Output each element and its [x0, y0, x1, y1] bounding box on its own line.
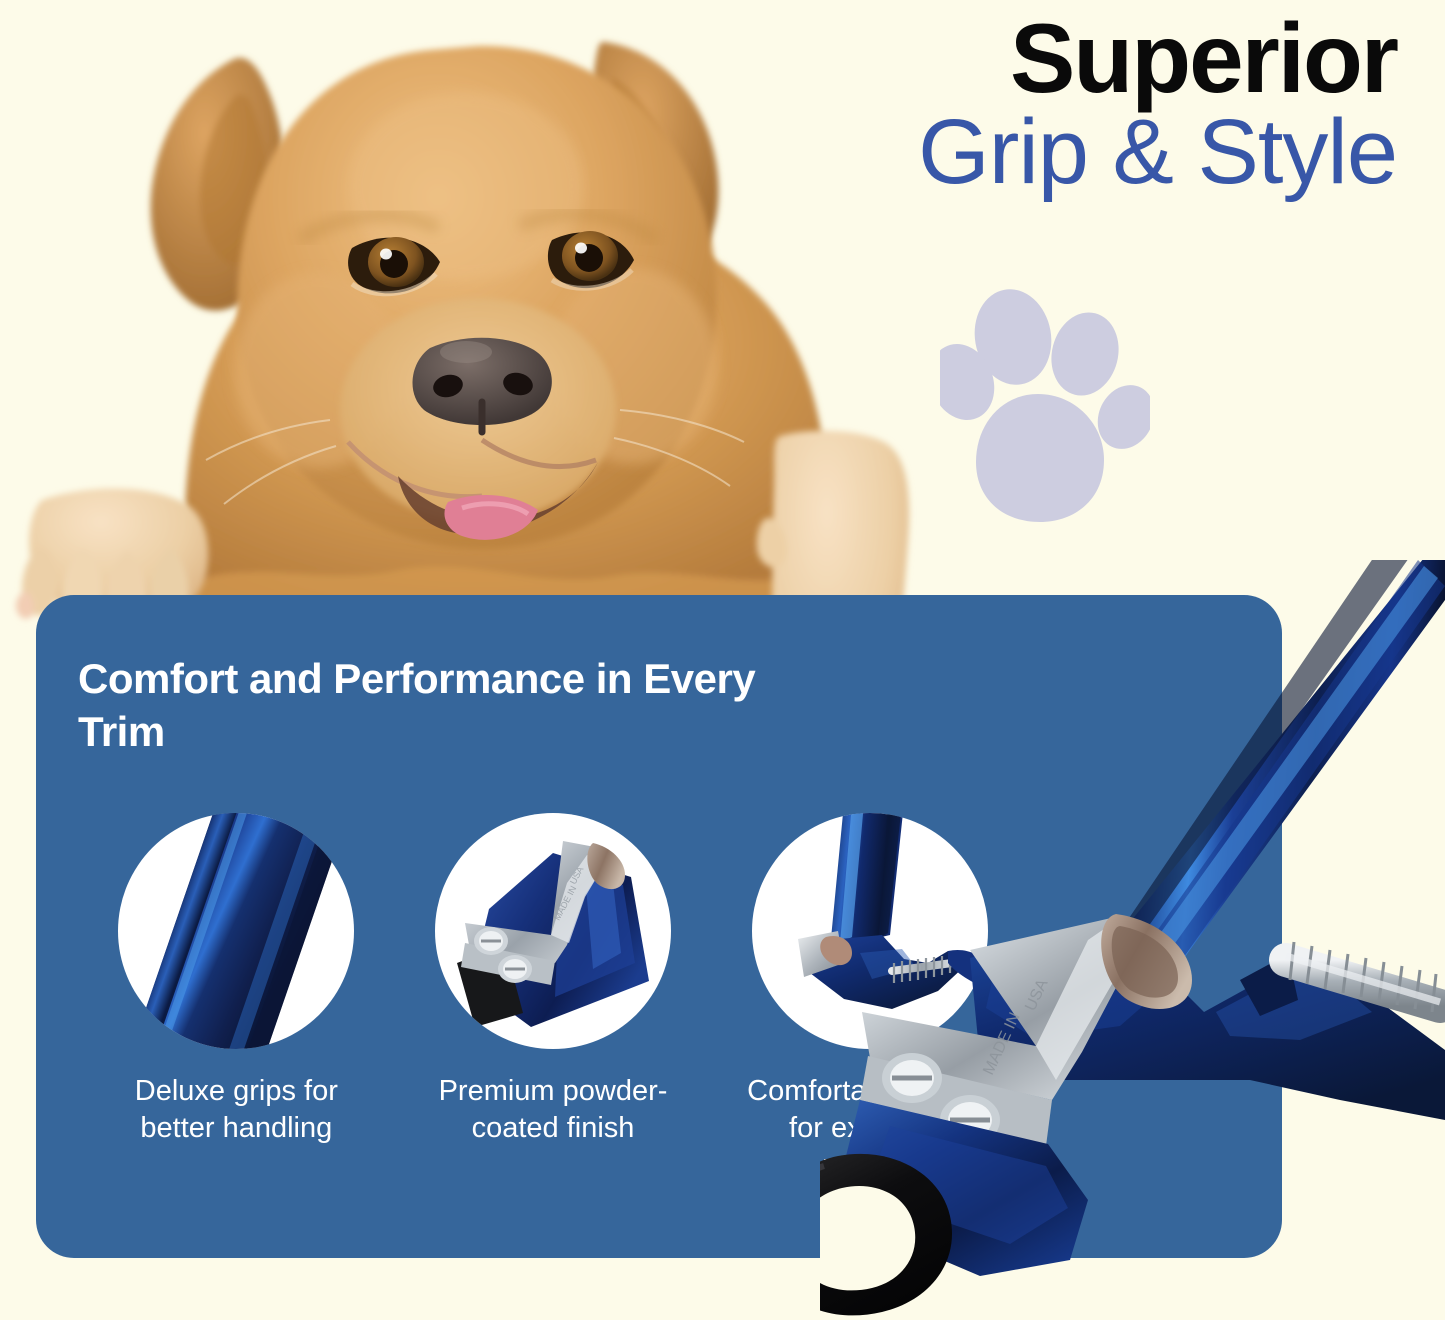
feature-image-powder-coated: MADE IN USA [435, 813, 671, 1049]
clipper-upper-handle [1106, 560, 1445, 980]
headline-primary: Superior [918, 8, 1397, 110]
feature-image-deluxe-grips [118, 813, 354, 1049]
headline-block: Superior Grip & Style [918, 8, 1397, 201]
feature-item-deluxe-grips[interactable]: Deluxe grips for better handling [78, 813, 395, 1183]
card-heading: Comfort and Performance in Every Trim [78, 653, 778, 758]
marketing-image-canvas: Superior Grip & Style [0, 0, 1445, 1320]
feature-caption-powder-coated: Premium powder-coated finish [423, 1073, 683, 1147]
headline-secondary: Grip & Style [918, 104, 1397, 201]
feature-item-powder-coated[interactable]: MADE IN USA Premium powder-coated finish [395, 813, 712, 1183]
product-hero-clipper: MADE IN USA [820, 560, 1445, 1320]
feature-caption-deluxe-grips: Deluxe grips for better handling [106, 1073, 366, 1147]
